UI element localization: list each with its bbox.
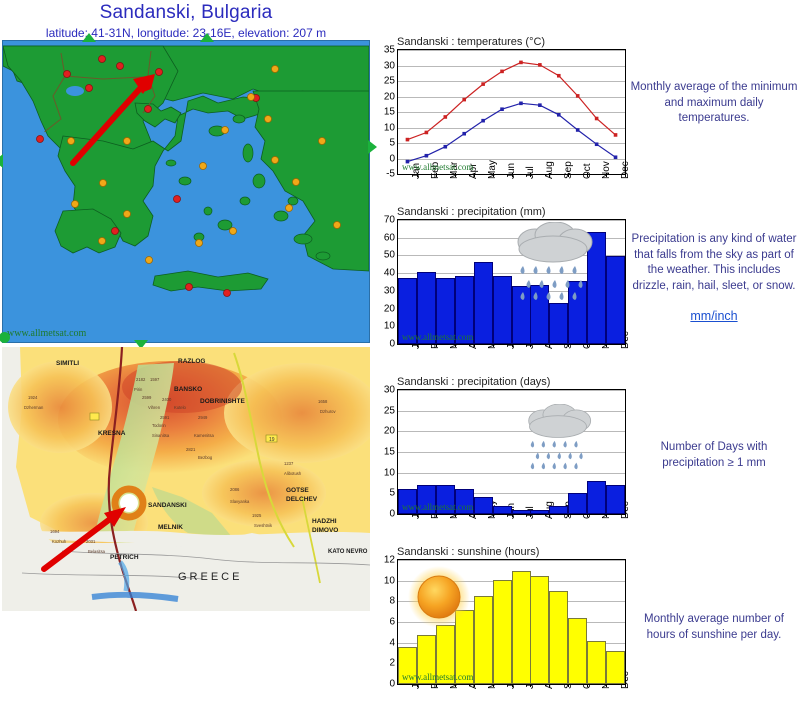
chart-watermark-precipitation-mm: www.allmetsat.com xyxy=(402,332,473,342)
nav-arrow-east[interactable] xyxy=(368,140,377,154)
y-axis-tick-label: 12 xyxy=(384,555,395,566)
bar xyxy=(549,506,568,514)
bar xyxy=(512,510,531,514)
svg-text:SIMITLI: SIMITLI xyxy=(56,360,79,367)
description-precipitation-mm-text: Precipitation is any kind of water that … xyxy=(632,233,797,292)
page-header: Sandanski, Bulgaria latitude: 41-31N, lo… xyxy=(0,0,372,36)
chart-watermark-sunshine: www.allmetsat.com xyxy=(402,672,473,682)
y-axis-tick-label: 2 xyxy=(389,658,395,669)
bar xyxy=(568,618,587,684)
bar xyxy=(474,596,493,684)
y-axis-tick-label: 60 xyxy=(384,232,395,243)
series-marker xyxy=(614,155,618,159)
nav-arrow-north-east[interactable] xyxy=(200,33,214,42)
svg-text:Dzherman: Dzherman xyxy=(24,405,44,410)
svg-text:KATO NEVRO: KATO NEVRO xyxy=(328,549,368,555)
svg-text:Sinanitsa: Sinanitsa xyxy=(152,433,170,438)
svg-text:2591: 2591 xyxy=(160,415,170,420)
y-axis-tick-label: 4 xyxy=(389,637,395,648)
svg-text:SANDANSKI: SANDANSKI xyxy=(148,502,187,509)
svg-text:1924: 1924 xyxy=(28,395,38,400)
series-marker xyxy=(519,61,523,65)
description-temperatures: Monthly average of the minimum and maxim… xyxy=(630,80,798,127)
svg-text:KRESNA: KRESNA xyxy=(98,430,126,437)
svg-text:GOTSE: GOTSE xyxy=(286,487,309,494)
mm-inch-unit-link[interactable]: mm/inch xyxy=(630,308,798,325)
rain-cloud-icon xyxy=(503,222,603,308)
y-axis-tick-label: 15 xyxy=(384,107,395,118)
bar xyxy=(606,651,625,684)
svg-text:RAZLOG: RAZLOG xyxy=(178,358,205,365)
series-marker xyxy=(500,70,504,74)
series-marker xyxy=(614,133,618,137)
y-axis-tick-label: 10 xyxy=(384,467,395,478)
svg-text:Kamenitsa: Kamenitsa xyxy=(194,433,214,438)
description-sunshine: Monthly average number of hours of sunsh… xyxy=(630,612,798,643)
series-marker xyxy=(443,145,447,149)
y-axis-tick-label: 6 xyxy=(389,617,395,628)
chart-temperatures: Sandanski : temperatures (°C) www.allmet… xyxy=(383,36,627,175)
svg-text:Alibotush: Alibotush xyxy=(284,471,302,476)
y-axis-tick-label: 20 xyxy=(384,91,395,102)
chart-title-sunshine: Sandanski : sunshine (hours) xyxy=(397,546,627,558)
series-marker xyxy=(443,115,447,119)
y-axis-tick-label: 30 xyxy=(384,60,395,71)
svg-text:1597: 1597 xyxy=(150,377,160,382)
svg-text:1658: 1658 xyxy=(318,399,328,404)
series-marker xyxy=(576,94,580,98)
svg-text:HADZHI: HADZHI xyxy=(312,518,337,525)
svg-text:Sveshtnik: Sveshtnik xyxy=(254,523,273,528)
series-marker xyxy=(538,63,542,67)
svg-text:GREECE: GREECE xyxy=(178,571,242,583)
plot-area-sunshine: www.allmetsat.com 024681012JanFebMarAprM… xyxy=(397,559,626,685)
nav-arrow-north[interactable] xyxy=(82,33,96,42)
svg-text:BANSKO: BANSKO xyxy=(174,386,202,393)
series-line xyxy=(408,62,616,139)
sandanski-topographic-map[interactable]: SIMITLI RAZLOG BANSKO DOBRINISHTE KRESNA… xyxy=(2,347,370,611)
sun-icon xyxy=(406,566,472,628)
bar xyxy=(530,576,549,685)
svg-text:Bezbog: Bezbog xyxy=(198,455,213,460)
svg-text:2821: 2821 xyxy=(186,447,196,452)
y-axis-tick-label: 5 xyxy=(389,488,395,499)
series-marker xyxy=(462,132,466,136)
y-axis-tick-label: 0 xyxy=(389,339,395,350)
y-axis-tick-label: 30 xyxy=(384,385,395,396)
plot-area-precipitation-days: www.allmetsat.com 051015202530JanFebMarA… xyxy=(397,389,626,515)
y-axis-tick-label: 8 xyxy=(389,596,395,607)
chart-watermark-temperatures: www.allmetsat.com xyxy=(402,162,473,172)
svg-text:Todorin: Todorin xyxy=(152,423,166,428)
gridline xyxy=(398,220,625,221)
series-marker xyxy=(481,119,485,123)
y-axis-tick-label: 15 xyxy=(384,447,395,458)
series-marker xyxy=(519,102,523,106)
series-marker xyxy=(595,117,599,121)
topo-map-graphic: SIMITLI RAZLOG BANSKO DOBRINISHTE KRESNA… xyxy=(2,347,370,611)
region-map-watermark: www.allmetsat.com xyxy=(7,328,86,339)
bar xyxy=(474,262,493,344)
y-axis-tick-label: 20 xyxy=(384,426,395,437)
plot-area-temperatures: www.allmetsat.com -505101520253035JanFeb… xyxy=(397,49,626,175)
bar xyxy=(493,580,512,684)
series-marker xyxy=(595,142,599,146)
chart-title-precipitation-mm: Sandanski : precipitation (mm) xyxy=(397,206,627,218)
svg-text:MELNIK: MELNIK xyxy=(158,524,183,531)
svg-text:DOBRINISHTE: DOBRINISHTE xyxy=(200,398,245,405)
region-map-container[interactable]: www.allmetsat.com xyxy=(2,40,370,343)
svg-text:2599: 2599 xyxy=(142,395,152,400)
svg-text:Dzhurov: Dzhurov xyxy=(320,409,336,414)
gridline xyxy=(398,560,625,561)
svg-text:PETRICH: PETRICH xyxy=(110,554,139,561)
bar xyxy=(549,591,568,684)
y-axis-tick-label: 10 xyxy=(384,122,395,133)
y-axis-tick-label: 0 xyxy=(389,679,395,690)
geo-coordinates: latitude: 41-31N, longitude: 23-16E, ele… xyxy=(0,26,372,40)
page-title: Sandanski, Bulgaria xyxy=(0,2,372,24)
plot-area-precipitation-mm: www.allmetsat.com 010203040506070JanFebM… xyxy=(397,219,626,345)
series-marker xyxy=(557,113,561,117)
series-marker xyxy=(538,103,542,107)
description-precipitation-days: Number of Days with precipitation ≥ 1 mm xyxy=(630,440,798,471)
svg-text:1237: 1237 xyxy=(284,461,294,466)
series-marker xyxy=(481,82,485,86)
y-axis-tick-label: 10 xyxy=(384,321,395,332)
y-axis-tick-label: 0 xyxy=(389,153,395,164)
svg-text:DIMOVO: DIMOVO xyxy=(312,527,338,534)
svg-text:DELCHEV: DELCHEV xyxy=(286,496,318,503)
series-marker xyxy=(500,107,504,111)
series-line xyxy=(408,103,616,161)
y-axis-tick-label: 35 xyxy=(384,45,395,56)
series-marker xyxy=(576,128,580,132)
svg-text:2031: 2031 xyxy=(86,539,96,544)
series-marker xyxy=(425,131,429,135)
region-map-graphic xyxy=(3,41,369,342)
description-precipitation-mm: Precipitation is any kind of water that … xyxy=(630,232,798,325)
y-axis-tick-label: -5 xyxy=(386,169,395,180)
bar xyxy=(606,256,625,344)
bar xyxy=(530,510,549,514)
svg-text:1925: 1925 xyxy=(252,513,262,518)
y-axis-tick-label: 30 xyxy=(384,285,395,296)
svg-text:Kutelo: Kutelo xyxy=(174,405,187,410)
svg-text:19: 19 xyxy=(269,437,275,443)
bar xyxy=(587,641,606,684)
series-marker xyxy=(406,138,410,142)
climate-page: Sandanski, Bulgaria latitude: 41-31N, lo… xyxy=(0,0,800,713)
bar xyxy=(512,571,531,684)
y-axis-tick-label: 70 xyxy=(384,215,395,226)
rain-cloud-icon xyxy=(516,404,600,476)
y-axis-tick-label: 40 xyxy=(384,268,395,279)
y-axis-tick-label: 25 xyxy=(384,405,395,416)
temperature-series-group xyxy=(398,50,625,174)
bar xyxy=(493,506,512,514)
chart-title-precipitation-days: Sandanski : precipitation (days) xyxy=(397,376,627,388)
y-axis-tick-label: 0 xyxy=(389,509,395,520)
chart-precipitation-mm: Sandanski : precipitation (mm) xyxy=(383,206,627,345)
series-marker xyxy=(462,98,466,102)
y-axis-tick-label: 50 xyxy=(384,250,395,261)
gridline xyxy=(398,390,625,391)
y-axis-tick-label: 5 xyxy=(389,138,395,149)
bar xyxy=(474,497,493,514)
chart-sunshine: Sandanski : sunshine (hours) xyxy=(383,546,627,685)
series-marker xyxy=(425,154,429,158)
chart-title-temperatures: Sandanski : temperatures (°C) xyxy=(397,36,627,48)
svg-text:Pirin: Pirin xyxy=(134,387,143,392)
y-axis-tick-label: 10 xyxy=(384,575,395,586)
bar xyxy=(587,481,606,514)
balkans-region-map[interactable]: www.allmetsat.com xyxy=(2,40,370,343)
svg-text:Vihren: Vihren xyxy=(148,405,161,410)
svg-text:2182: 2182 xyxy=(136,377,146,382)
nav-arrow-west[interactable] xyxy=(0,154,3,168)
svg-text:2949: 2949 xyxy=(198,415,208,420)
bar xyxy=(606,485,625,514)
bar xyxy=(549,303,568,344)
svg-text:Kozhuh: Kozhuh xyxy=(52,539,67,544)
y-axis-tick-label: 25 xyxy=(384,76,395,87)
svg-text:2400: 2400 xyxy=(162,397,172,402)
svg-text:Belasitsa: Belasitsa xyxy=(88,549,106,554)
bar xyxy=(568,493,587,514)
chart-precipitation-days: Sandanski : precipitation (days) xyxy=(383,376,627,515)
svg-text:2086: 2086 xyxy=(230,487,240,492)
chart-watermark-precipitation-days: www.allmetsat.com xyxy=(402,502,473,512)
svg-text:1694: 1694 xyxy=(50,529,60,534)
y-axis-tick-label: 20 xyxy=(384,303,395,314)
series-marker xyxy=(557,74,561,78)
svg-text:Slavyanka: Slavyanka xyxy=(230,499,250,504)
